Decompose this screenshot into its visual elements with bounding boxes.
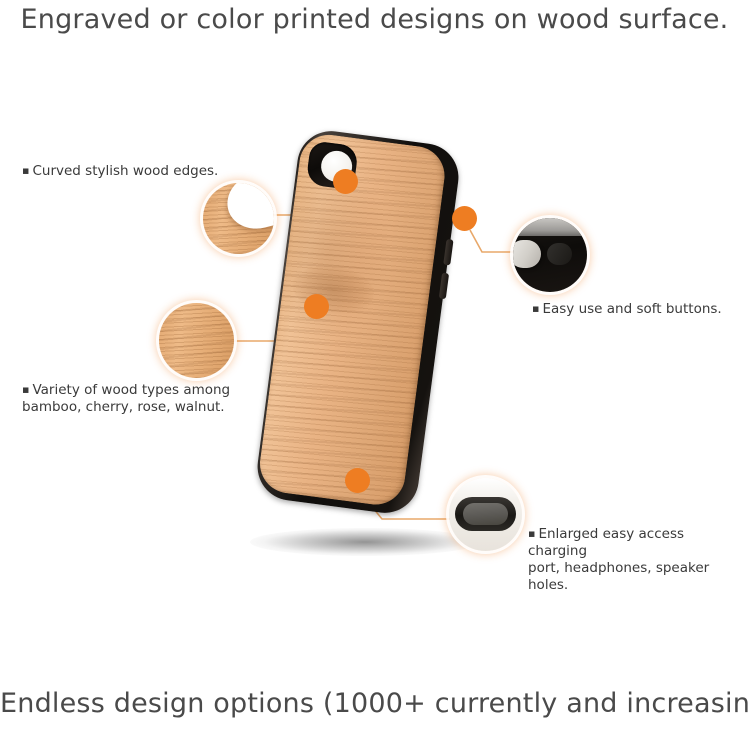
callout-charging-port-line1: Enlarged easy access charging bbox=[528, 526, 684, 559]
marker-wood-variety[interactable] bbox=[304, 294, 329, 319]
callout-wood-variety-line2: bamboo, cherry, rose, walnut. bbox=[22, 399, 225, 415]
wood-phone-case bbox=[255, 128, 485, 528]
page-title-bottom: Endless design options (1000+ currently … bbox=[0, 688, 749, 719]
bullet-icon: ▪ bbox=[22, 164, 29, 177]
callout-soft-buttons-label: Easy use and soft buttons. bbox=[542, 301, 721, 317]
callout-curved-edges: ▪Curved stylish wood edges. bbox=[22, 162, 218, 180]
bullet-icon: ▪ bbox=[528, 527, 535, 540]
magnified-case-highlight bbox=[513, 218, 587, 236]
magnifier-curved-edges bbox=[203, 183, 274, 254]
marker-soft-buttons[interactable] bbox=[452, 206, 477, 231]
marker-curved-edges[interactable] bbox=[333, 169, 358, 194]
magnified-button-recess bbox=[547, 243, 572, 265]
phone-case-shadow bbox=[250, 528, 480, 556]
magnified-wood-grain bbox=[159, 303, 234, 378]
marker-charging-port[interactable] bbox=[345, 468, 370, 493]
magnifier-charging-port bbox=[449, 478, 522, 551]
phone-case-body bbox=[253, 127, 462, 517]
bullet-icon: ▪ bbox=[532, 302, 539, 315]
callout-soft-buttons: ▪Easy use and soft buttons. bbox=[532, 300, 722, 318]
callout-wood-variety-line1: Variety of wood types among bbox=[32, 382, 230, 398]
bullet-icon: ▪ bbox=[22, 383, 29, 396]
magnified-port-opening bbox=[463, 503, 507, 526]
callout-wood-variety: ▪Variety of wood types among bamboo, che… bbox=[22, 381, 252, 416]
callout-charging-port: ▪Enlarged easy access charging port, hea… bbox=[528, 525, 743, 594]
callout-charging-port-line2: port, headphones, speaker holes. bbox=[528, 560, 709, 593]
magnifier-soft-buttons bbox=[513, 218, 587, 292]
wood-grain-knot bbox=[289, 261, 376, 318]
magnified-port-ring bbox=[455, 497, 516, 531]
infographic-canvas: Engraved or color printed designs on woo… bbox=[0, 0, 749, 731]
callout-curved-edges-label: Curved stylish wood edges. bbox=[32, 163, 218, 179]
magnifier-wood-variety bbox=[159, 303, 234, 378]
